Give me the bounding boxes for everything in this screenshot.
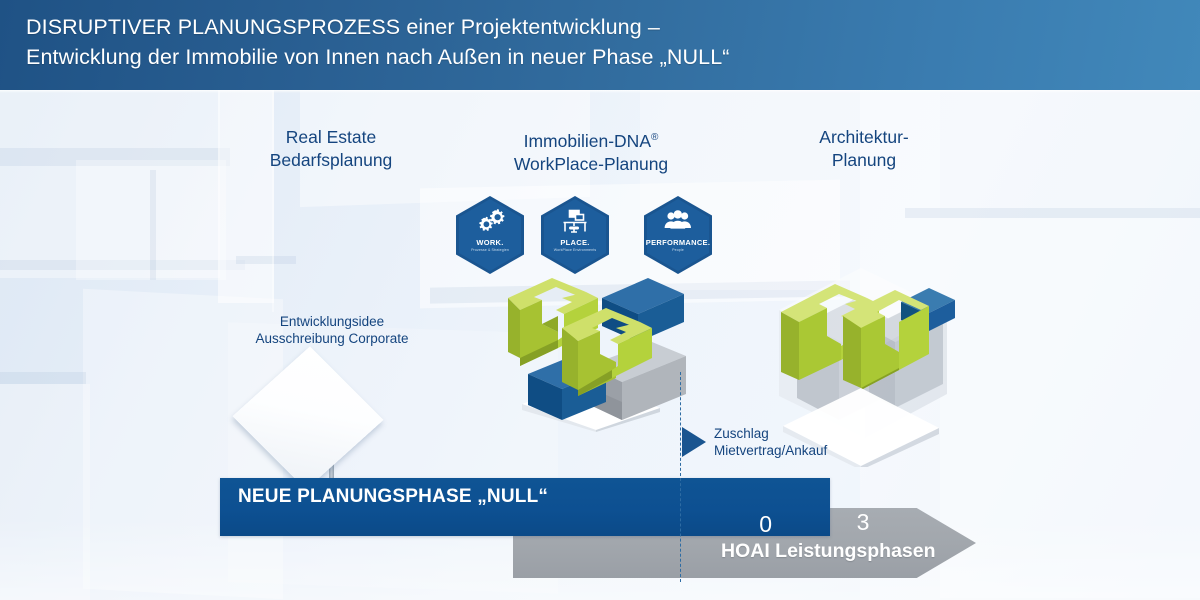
neue-planungsphase-bar: NEUE PLANUNGSPHASE „NULL“ 0 <box>220 478 830 536</box>
triangle-right-icon <box>682 427 706 457</box>
zuschlag-line2: Mietvertrag/Ankauf <box>714 442 827 459</box>
column-title-real-estate-line2: Bedarfsplanung <box>231 149 431 172</box>
left-note-line1: Entwicklungsidee <box>237 313 427 330</box>
left-note: Entwicklungsidee Ausschreibung Corporate <box>237 313 427 347</box>
desk-icon <box>560 207 590 235</box>
hex-subtitle-performance: People <box>672 248 684 252</box>
registered-mark: ® <box>651 132 658 143</box>
neue-planungsphase-label: NEUE PLANUNGSPHASE „NULL“ <box>238 486 548 508</box>
phase-divider-dashed-line <box>680 372 681 582</box>
page-title: DISRUPTIVER PLANUNGSPROZESS einer Projek… <box>26 12 730 72</box>
column-title-immobilien-dna-line1: Immobilien-DNA® <box>481 126 701 153</box>
hoai-bar-label: HOAI Leistungsphasen <box>721 540 936 563</box>
column-title-architektur: Architektur- Planung <box>764 126 964 172</box>
title-line-2: Entwicklung der Immobilie von Innen nach… <box>26 42 730 72</box>
left-note-line2: Ausschreibung Corporate <box>237 330 427 347</box>
hex-title-work: WORK. <box>476 238 503 247</box>
people-icon <box>663 207 693 235</box>
phase-number-0: 0 <box>759 511 772 537</box>
title-line-1: DISRUPTIVER PLANUNGSPROZESS einer Projek… <box>26 15 660 39</box>
hex-title-place: PLACE. <box>560 238 589 247</box>
zuschlag-label: Zuschlag Mietvertrag/Ankauf <box>714 425 827 459</box>
hex-subtitle-place: WorkPlace Environments <box>554 248 596 252</box>
dna-text: Immobilien-DNA <box>524 131 651 151</box>
column-title-architektur-line2: Planung <box>764 149 964 172</box>
column-title-architektur-line1: Architektur- <box>764 126 964 149</box>
column-title-immobilien-dna-line2: WorkPlace-Planung <box>481 153 701 176</box>
zuschlag-marker: Zuschlag Mietvertrag/Ankauf <box>682 425 827 459</box>
exploded-cube-illustration <box>500 262 690 432</box>
column-title-immobilien-dna: Immobilien-DNA® WorkPlace-Planung <box>481 126 701 176</box>
infographic-canvas: DISRUPTIVER PLANUNGSPROZESS einer Projek… <box>0 0 1200 600</box>
column-title-real-estate-line1: Real Estate <box>231 126 431 149</box>
hoai-phase-number-3: 3 <box>843 509 883 535</box>
header-banner: DISRUPTIVER PLANUNGSPROZESS einer Projek… <box>0 0 1200 90</box>
hex-title-performance: PERFORMANCE. <box>646 238 710 247</box>
column-title-real-estate: Real Estate Bedarfsplanung <box>231 126 431 172</box>
gears-icon <box>475 207 505 235</box>
zuschlag-line1: Zuschlag <box>714 425 827 442</box>
hex-subtitle-work: Prozesse & Strategien <box>471 248 509 252</box>
